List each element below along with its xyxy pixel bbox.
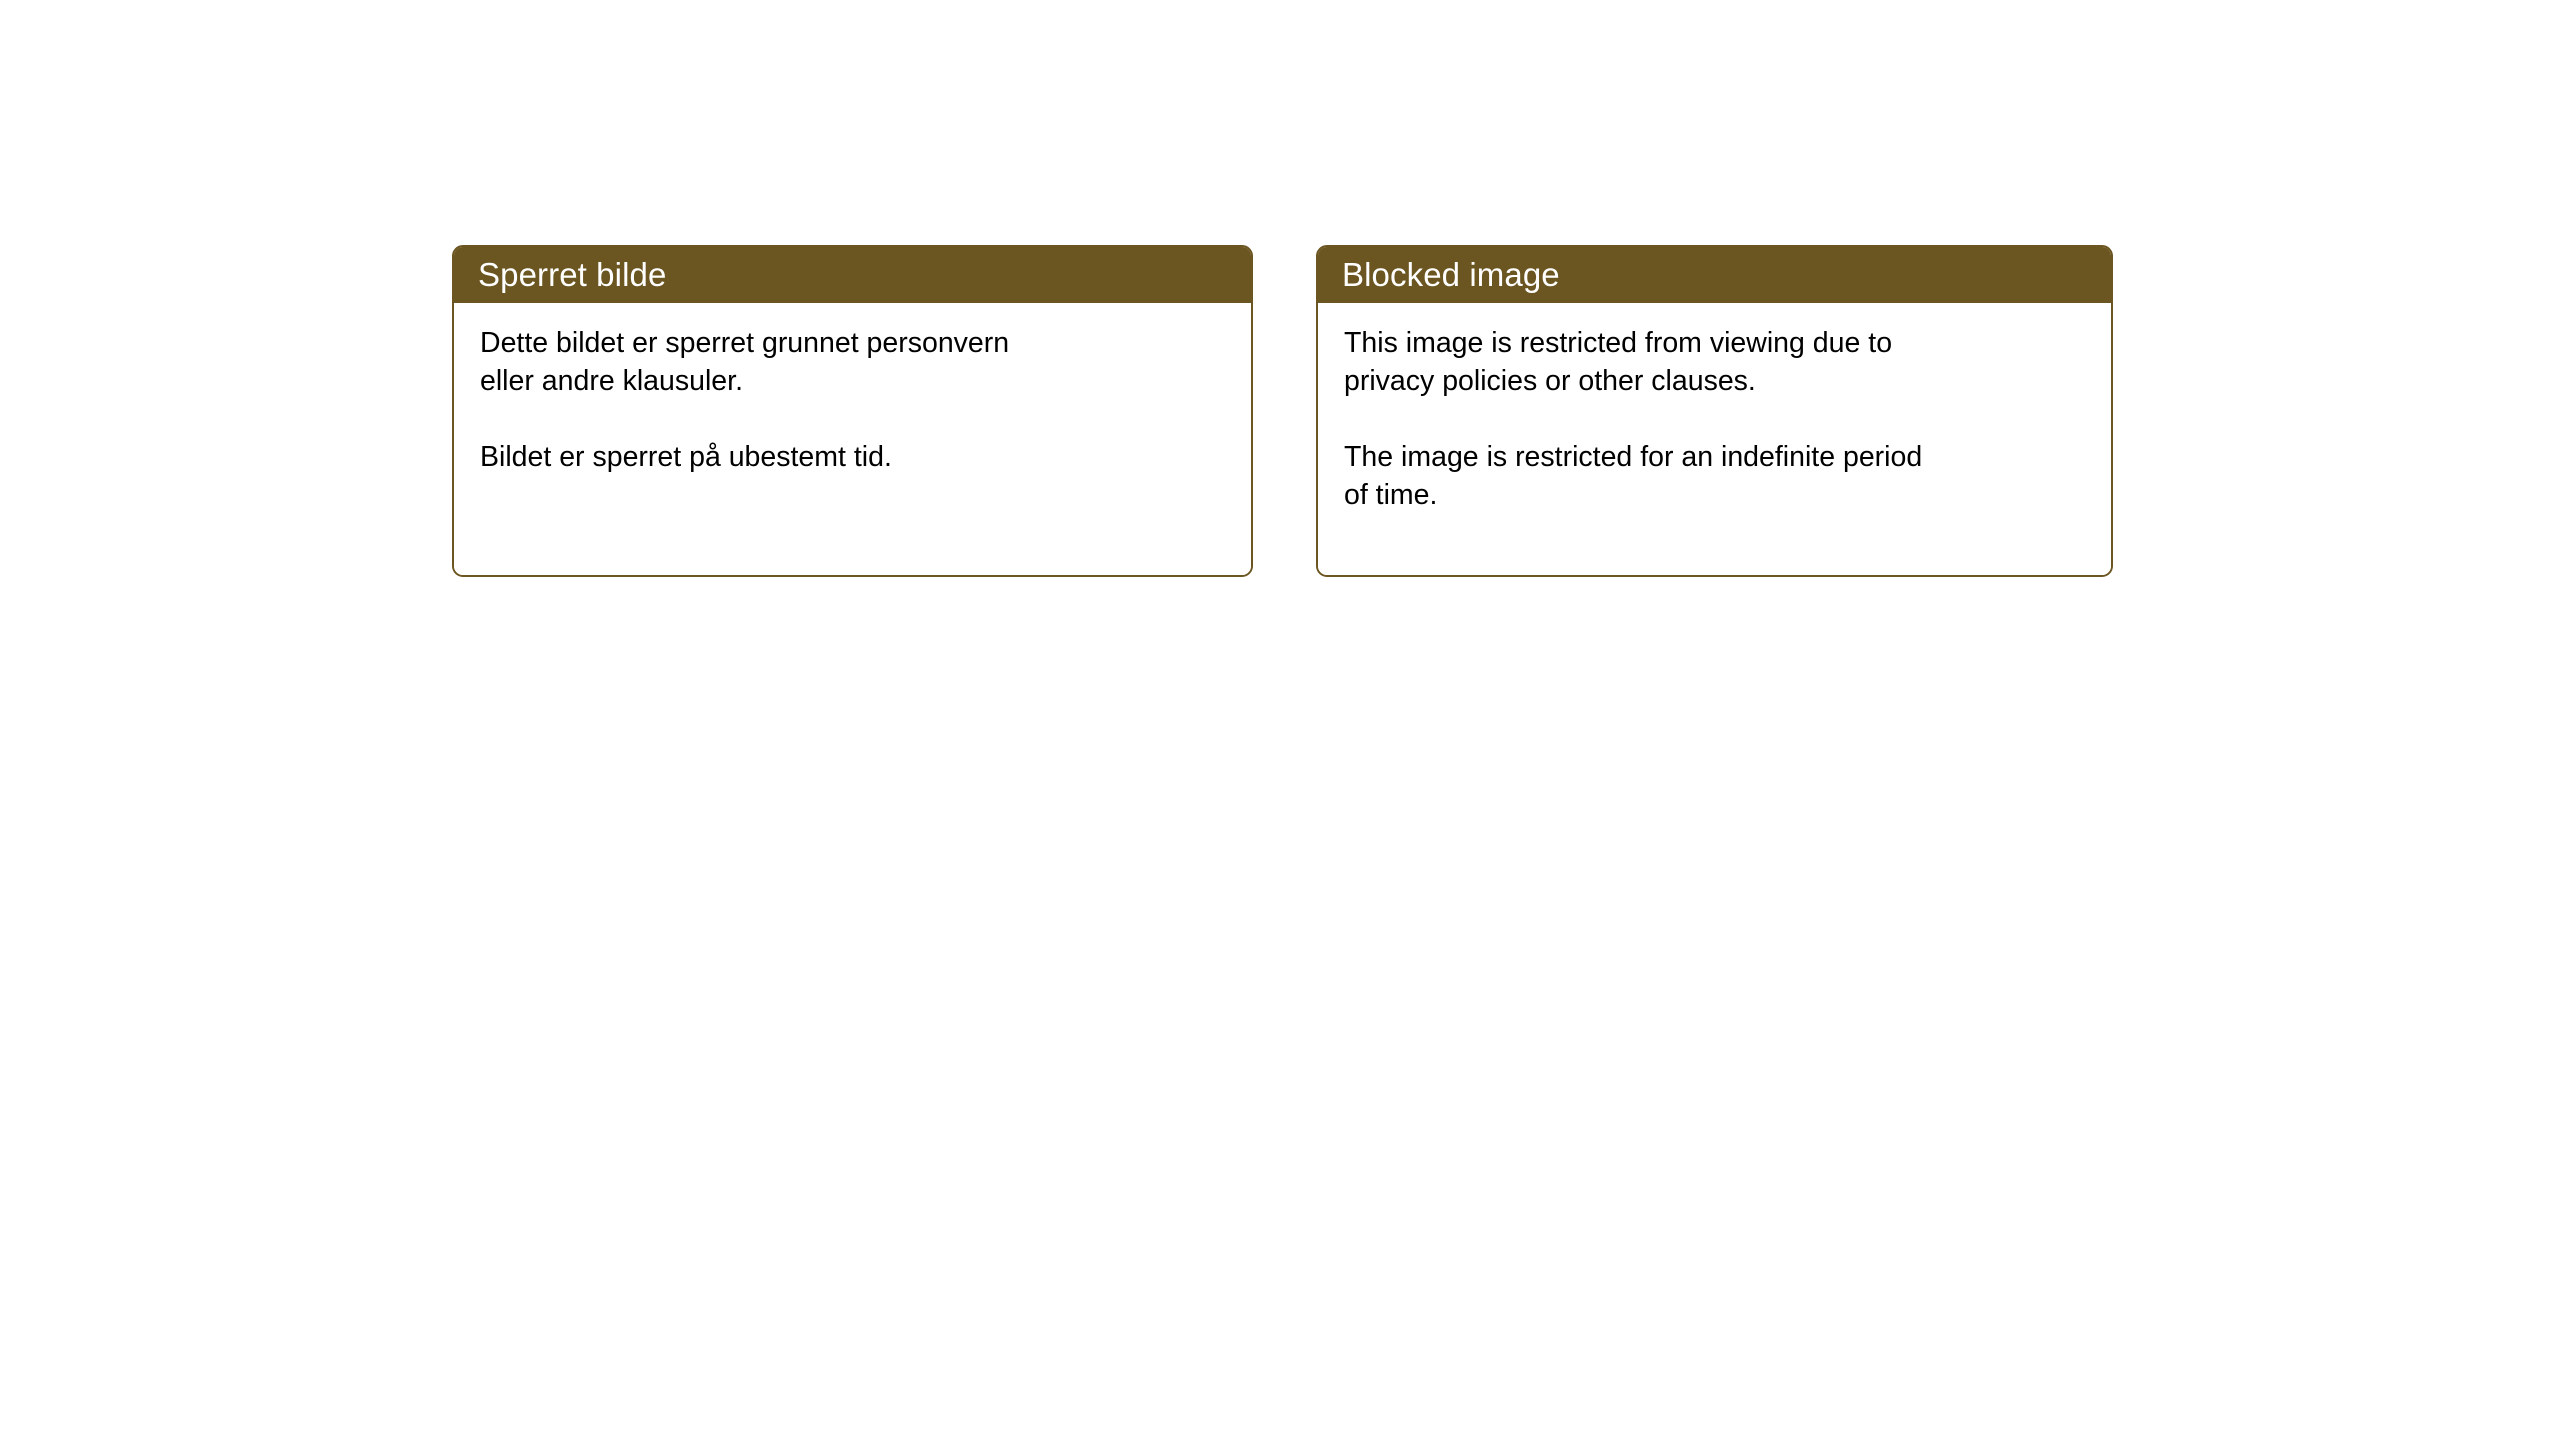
- blocked-image-card-english: Blocked image This image is restricted f…: [1316, 245, 2113, 577]
- blocked-image-notices: Sperret bilde Dette bildet er sperret gr…: [452, 245, 2113, 577]
- blocked-image-card-norwegian: Sperret bilde Dette bildet er sperret gr…: [452, 245, 1253, 577]
- paragraph-spacer-english: [1344, 401, 2085, 439]
- card-paragraph-norwegian-1: Dette bildet er sperret grunnet personve…: [480, 325, 1225, 401]
- card-title-norwegian: Sperret bilde: [478, 258, 666, 291]
- card-body-english: This image is restricted from viewing du…: [1318, 303, 2111, 575]
- card-title-english: Blocked image: [1342, 258, 1560, 291]
- paragraph-spacer-norwegian: [480, 401, 1225, 439]
- card-paragraph-english-1: This image is restricted from viewing du…: [1344, 325, 2085, 401]
- card-paragraph-norwegian-2: Bildet er sperret på ubestemt tid.: [480, 439, 1225, 477]
- card-header-english: Blocked image: [1316, 245, 2113, 303]
- card-paragraph-english-2: The image is restricted for an indefinit…: [1344, 439, 2085, 515]
- card-header-norwegian: Sperret bilde: [452, 245, 1253, 303]
- card-body-norwegian: Dette bildet er sperret grunnet personve…: [454, 303, 1251, 575]
